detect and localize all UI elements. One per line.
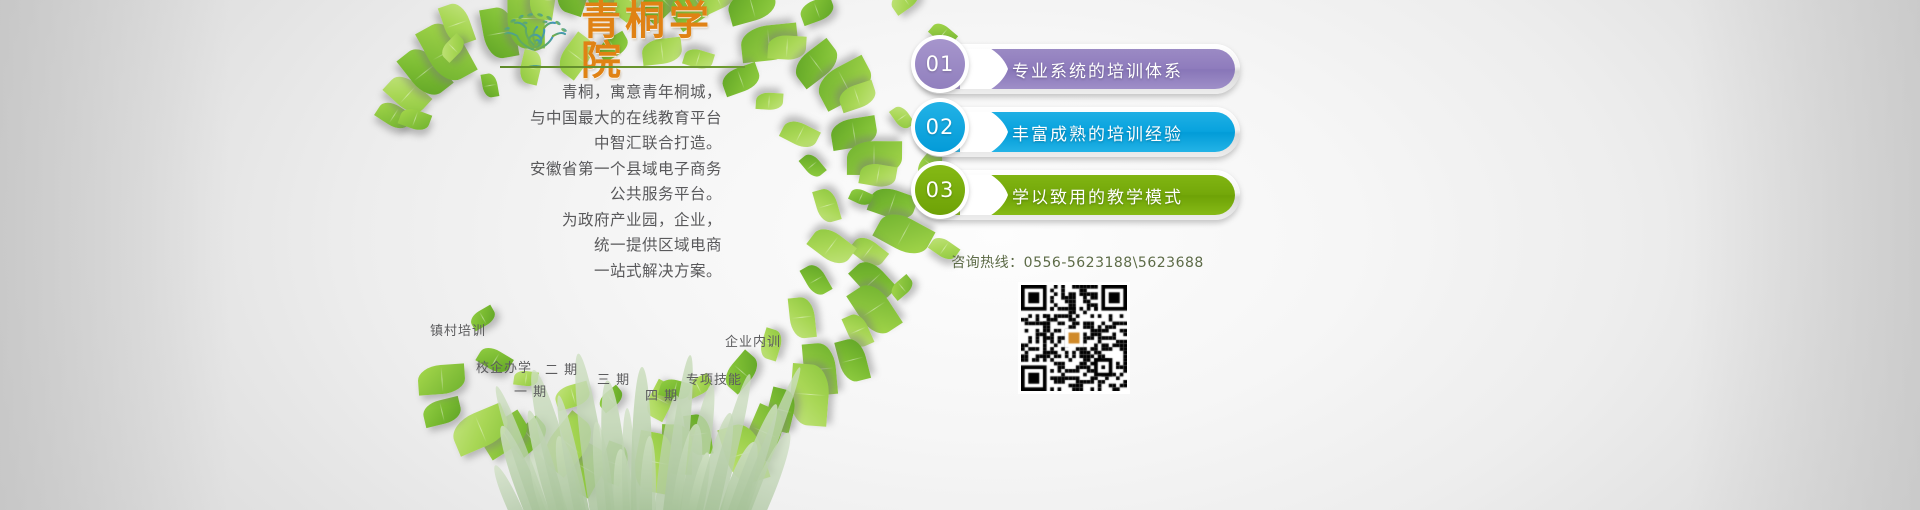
bottom-label-5: 二 期 <box>545 359 578 378</box>
description-line-4: 安徽省第一个县域电子商务 <box>430 157 722 183</box>
description-line-6: 为政府产业园，企业， <box>430 208 722 234</box>
leaf <box>398 105 433 133</box>
description-line-5: 公共服务平台。 <box>430 182 722 208</box>
leaf <box>887 0 922 16</box>
brand-logo: 青桐学院 <box>495 8 745 74</box>
banner-root: 青桐学院 青桐，寓意青年桐城， 与中国最大的在线教育平台 中智汇联合打造。 安徽… <box>0 0 1920 510</box>
qr-code-canvas <box>1021 285 1127 391</box>
description-line-2: 与中国最大的在线教育平台 <box>430 106 722 132</box>
leaf <box>800 261 833 299</box>
feature-badge-03-label: 学以致用的教学模式 <box>1012 183 1183 208</box>
brand-name: 青桐学院 <box>581 1 745 81</box>
hotline-text: 咨询热线：0556-5623188\5623688 <box>915 252 1240 272</box>
grass-tuft-decoration <box>505 330 755 510</box>
feature-badge-01-label: 专业系统的培训体系 <box>1012 57 1183 82</box>
leaf <box>799 151 827 180</box>
description-line-8: 一站式解决方案。 <box>430 259 722 285</box>
feature-badge-02-number: 02 <box>915 102 965 152</box>
leaf <box>788 296 818 339</box>
bottom-label-4: 专项技能 <box>686 369 742 388</box>
logo-divider <box>500 66 745 68</box>
feature-badge-01-number-circle: 01 <box>911 35 969 93</box>
bottom-label-7: 一 期 <box>514 381 547 400</box>
qr-code <box>1018 282 1130 394</box>
description-line-7: 统一提供区域电商 <box>430 233 722 259</box>
feature-badge-01-number: 01 <box>915 39 965 89</box>
description-block: 青桐，寓意青年桐城， 与中国最大的在线教育平台 中智汇联合打造。 安徽省第一个县… <box>430 80 722 284</box>
feature-badge-list: 专业系统的培训体系 01 丰富成熟的培训经验 02 学以致用的教 <box>915 44 1240 233</box>
feature-badge-03[interactable]: 学以致用的教学模式 03 <box>915 170 1240 220</box>
feature-badge-02[interactable]: 丰富成熟的培训经验 02 <box>915 107 1240 157</box>
leaf <box>755 92 783 110</box>
feature-badge-01[interactable]: 专业系统的培训体系 01 <box>915 44 1240 94</box>
bottom-label-2: 企业内训 <box>725 331 781 350</box>
leaf <box>806 223 856 270</box>
bottom-label-3: 校企办学 <box>476 357 532 376</box>
description-line-1: 青桐，寓意青年桐城， <box>430 80 722 106</box>
leaf <box>888 274 916 301</box>
leaf <box>767 34 806 60</box>
leaf <box>858 161 897 189</box>
leaf <box>797 0 836 26</box>
tree-icon <box>495 10 575 72</box>
leaf <box>779 116 821 152</box>
bottom-label-1: 镇村培训 <box>430 320 486 339</box>
leaf <box>812 186 842 225</box>
feature-badge-03-number-circle: 03 <box>911 161 969 219</box>
bottom-label-8: 四 期 <box>645 385 678 404</box>
description-line-3: 中智汇联合打造。 <box>430 131 722 157</box>
feature-badge-03-number: 03 <box>915 165 965 215</box>
feature-badge-02-number-circle: 02 <box>911 98 969 156</box>
feature-badge-02-label: 丰富成熟的培训经验 <box>1012 120 1183 145</box>
bottom-label-6: 三 期 <box>597 369 630 388</box>
leaf <box>417 363 466 395</box>
